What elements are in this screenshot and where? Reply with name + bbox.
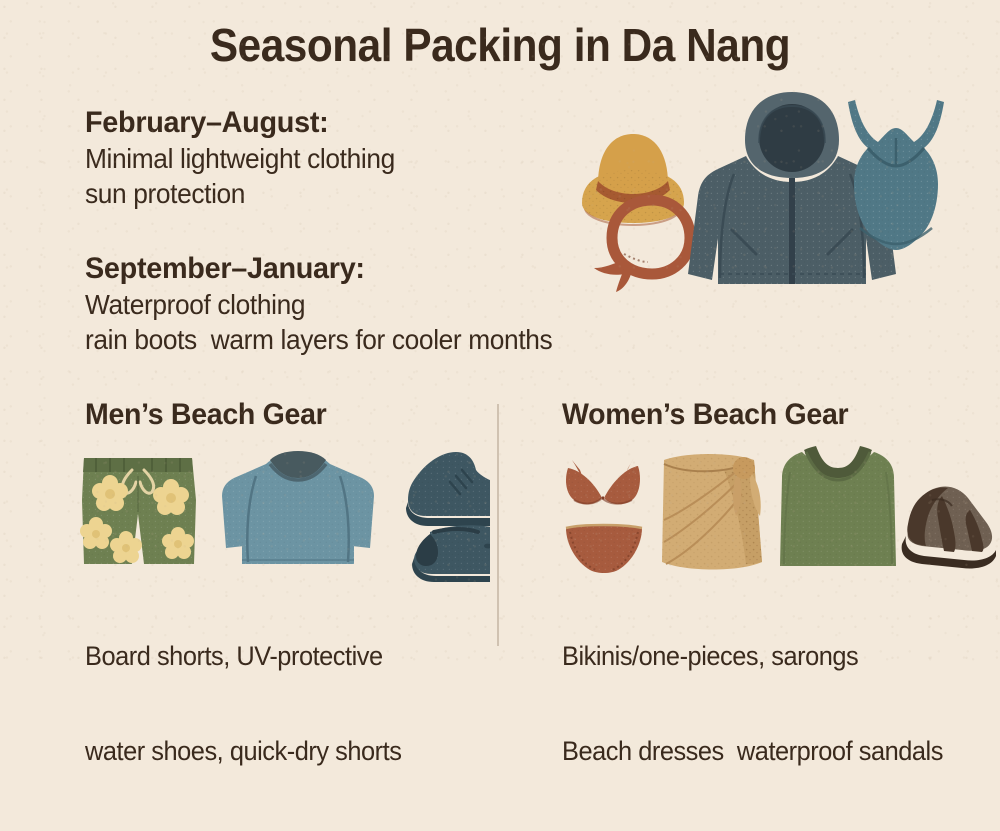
page-title: Seasonal Packing in Da Nang xyxy=(40,18,960,72)
mens-beach-gear-section: Men’s Beach Gear xyxy=(85,398,485,432)
season-heading: February–August: xyxy=(85,106,401,140)
season-line: sun protection xyxy=(85,178,395,210)
womens-gear-caption: Bikinis/one-pieces, sarongs Beach dresse… xyxy=(562,578,943,831)
bikini-bottom-icon xyxy=(566,525,642,573)
caption-line: Bikinis/one-pieces, sarongs xyxy=(562,641,943,673)
mens-gear-illustrations xyxy=(70,436,490,584)
long-sleeve-rash-shirt-icon xyxy=(222,451,374,564)
season-line: Waterproof clothing xyxy=(85,289,552,321)
sarong-wrap-icon xyxy=(662,454,762,570)
board-shorts-icon xyxy=(80,458,196,564)
bikini-top-icon xyxy=(566,458,640,504)
waterproof-sandal-icon xyxy=(902,486,996,568)
sun-hat-icon xyxy=(582,134,684,226)
seasonal-illustration-group xyxy=(560,78,990,298)
section-divider xyxy=(497,404,499,646)
water-shoe-icon xyxy=(406,452,490,526)
mens-gear-caption: Board shorts, UV-protective water shoes,… xyxy=(85,578,401,831)
caption-line: Beach dresses waterproof sandals xyxy=(562,736,943,768)
water-clog-icon xyxy=(412,525,490,582)
womens-gear-illustrations xyxy=(556,436,996,584)
caption-line: water shoes, quick-dry shorts xyxy=(85,736,401,768)
season-heading: September–January: xyxy=(85,252,562,286)
mens-gear-heading: Men’s Beach Gear xyxy=(85,398,465,432)
season-line: rain boots warm layers for cooler months xyxy=(85,324,552,356)
season-block-february-august: February–August: Minimal lightweight clo… xyxy=(85,106,415,210)
season-line: Minimal lightweight clothing xyxy=(85,143,395,175)
beach-dress-tank-icon xyxy=(780,446,896,566)
caption-line: Board shorts, UV-protective xyxy=(85,641,401,673)
season-block-september-january: September–January: Waterproof clothing r… xyxy=(85,252,582,356)
womens-gear-heading: Women’s Beach Gear xyxy=(562,398,971,432)
womens-beach-gear-section: Women’s Beach Gear xyxy=(562,398,992,432)
